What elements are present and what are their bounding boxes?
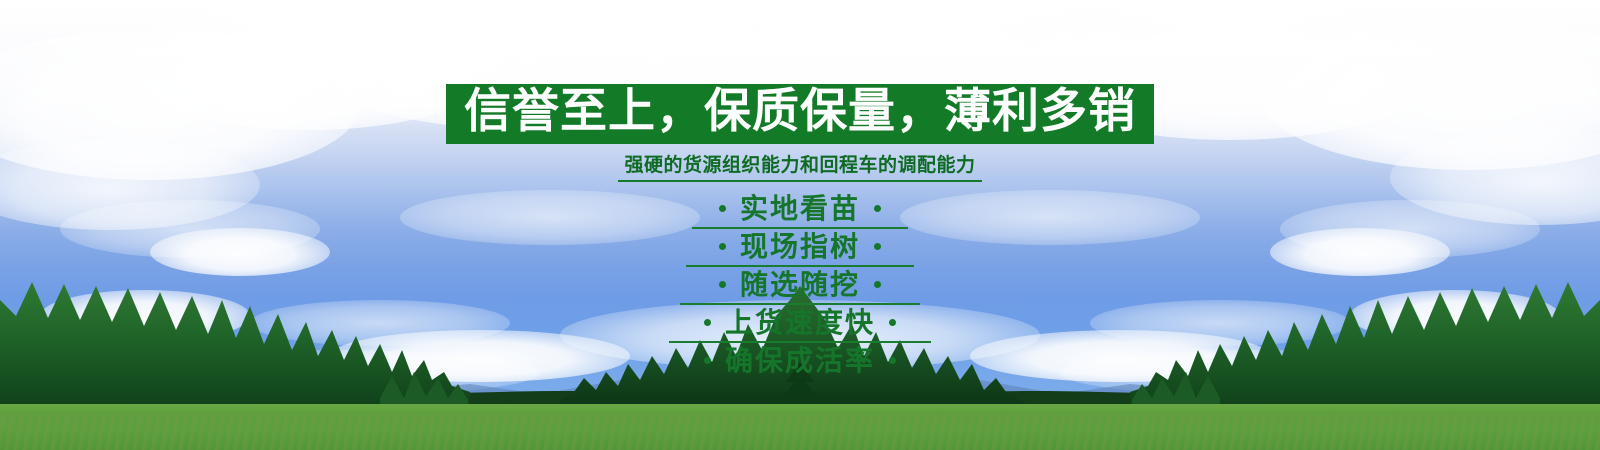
bullet-dot-icon (889, 357, 896, 364)
feature-row: 上货速度快 (669, 305, 931, 343)
feature-row: 现场指树 (686, 229, 914, 267)
feature-label: 上货速度快 (725, 306, 875, 339)
feature-label: 确保成活率 (725, 344, 875, 377)
banner-content: 信誉至上，保质保量，薄利多销 强硬的货源组织能力和回程车的调配能力 实地看苗 现… (0, 0, 1600, 450)
bullet-dot-icon (704, 319, 711, 326)
bullet-dot-icon (719, 205, 726, 212)
feature-row: 确保成活率 (664, 343, 936, 379)
headline-text: 信誉至上，保质保量，薄利多销 (464, 88, 1136, 136)
promo-banner: 信誉至上，保质保量，薄利多销 强硬的货源组织能力和回程车的调配能力 实地看苗 现… (0, 0, 1600, 450)
bullet-dot-icon (704, 357, 711, 364)
feature-label: 实地看苗 (740, 192, 860, 225)
feature-list: 实地看苗 现场指树 随选随挖 上货速度快 确保成活率 (664, 191, 936, 379)
feature-label: 随选随挖 (740, 268, 860, 301)
bullet-dot-icon (719, 243, 726, 250)
feature-row: 实地看苗 (692, 191, 908, 229)
bullet-dot-icon (874, 243, 881, 250)
headline-banner: 信誉至上，保质保量，薄利多销 (446, 84, 1154, 144)
bullet-dot-icon (719, 281, 726, 288)
feature-label: 现场指树 (740, 230, 860, 263)
bullet-dot-icon (889, 319, 896, 326)
feature-row: 随选随挖 (680, 267, 920, 305)
subtitle-text: 强硬的货源组织能力和回程车的调配能力 (618, 150, 981, 182)
bullet-dot-icon (874, 205, 881, 212)
bullet-dot-icon (874, 281, 881, 288)
